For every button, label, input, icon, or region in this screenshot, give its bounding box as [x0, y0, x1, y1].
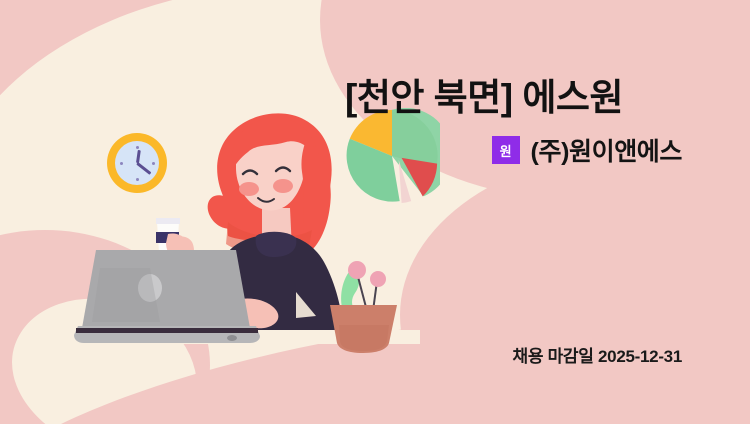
company-name: (주)원이앤에스 — [531, 132, 682, 168]
laptop-trackpad — [227, 335, 237, 341]
page-title: [천안 북면] 에스원 — [345, 76, 623, 120]
plant-flower — [370, 271, 386, 287]
plant-flower — [348, 261, 366, 279]
potted-plant-icon — [325, 255, 445, 355]
company-badge: 원 — [492, 136, 520, 164]
job-posting-banner: [천안 북면] 에스원 원 (주)원이앤에스 채용 마감일 2025-12-31 — [0, 0, 750, 424]
cheek-left — [239, 182, 259, 196]
pot-texture — [339, 325, 389, 351]
laptop-texture — [92, 268, 160, 322]
laptop-hinge — [76, 328, 258, 333]
application-deadline: 채용 마감일 2025-12-31 — [512, 342, 682, 367]
company-row: 원 (주)원이앤에스 — [492, 132, 682, 168]
cheek-right — [273, 179, 293, 193]
